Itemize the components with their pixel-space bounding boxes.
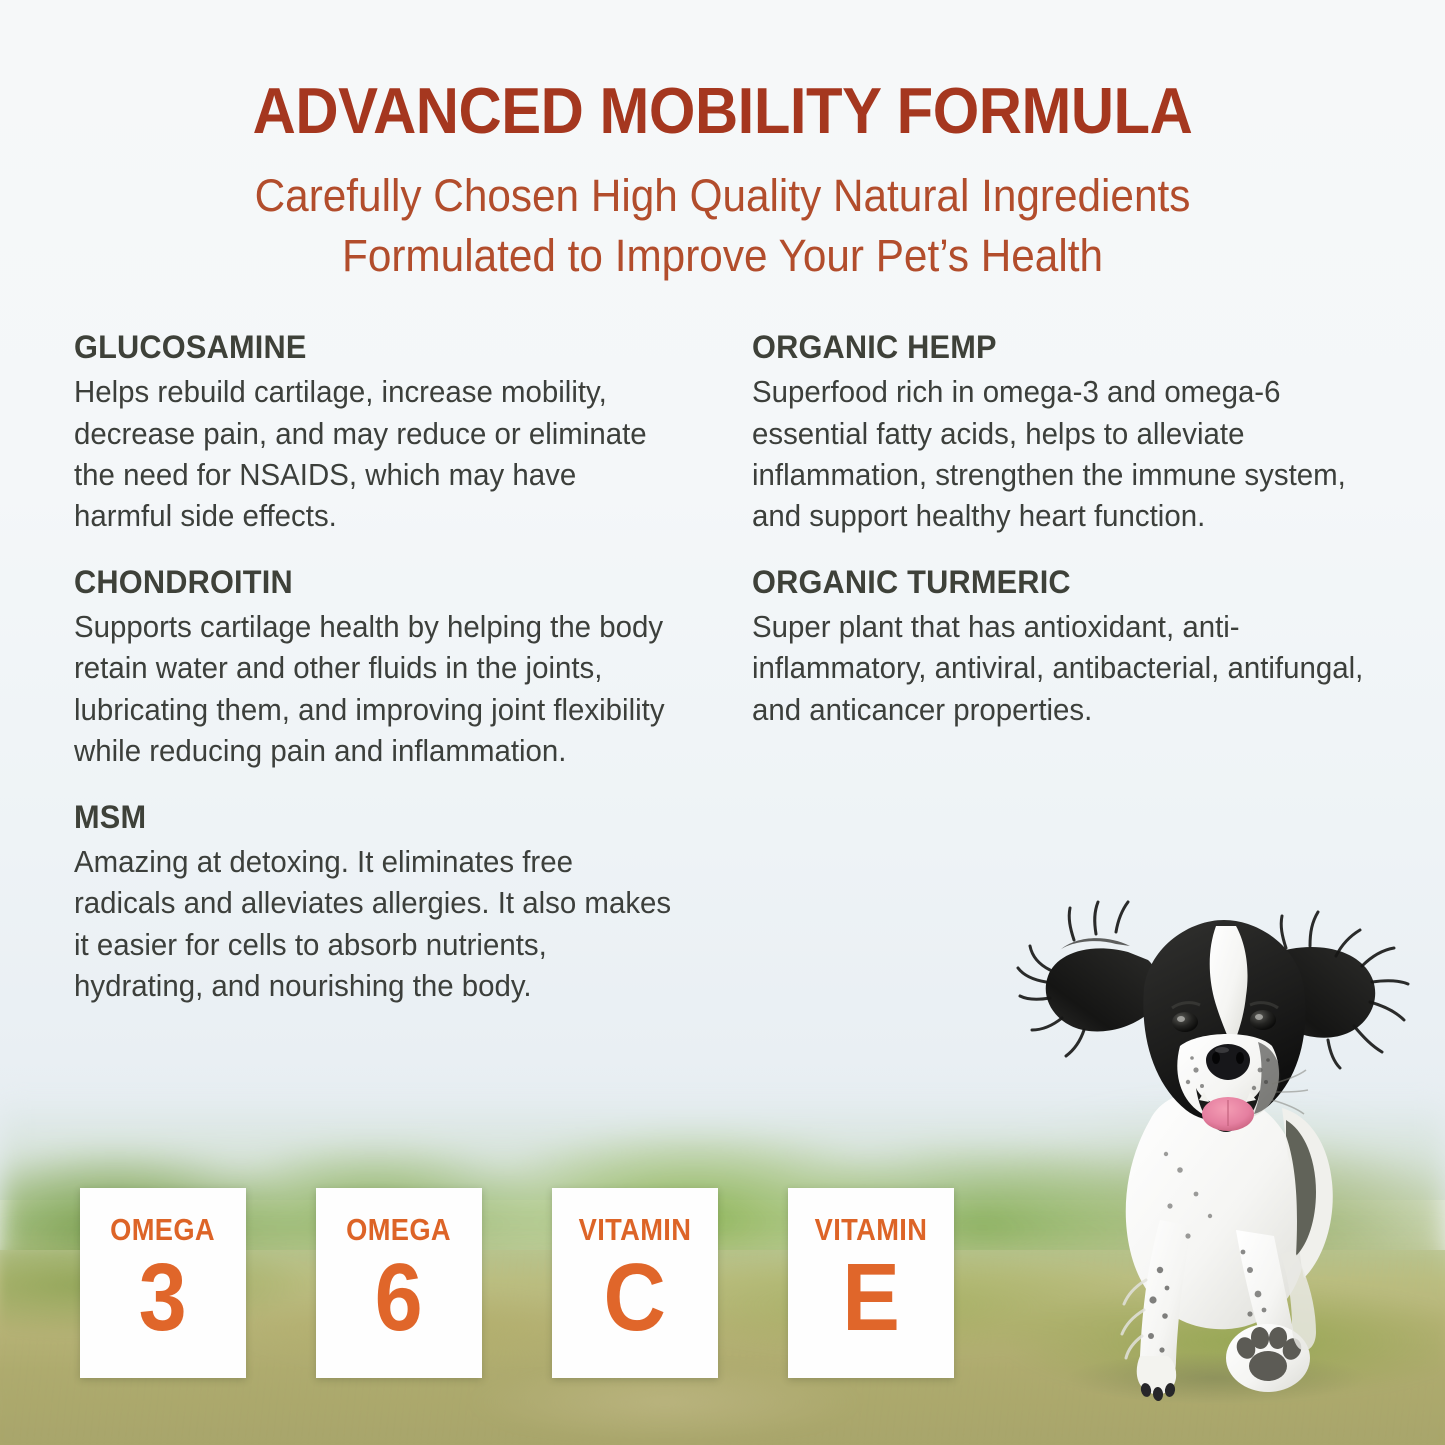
subtitle-line-1: Carefully Chosen High Quality Natural In… <box>43 166 1401 225</box>
badge-vitamin-c: VITAMIN C <box>552 1188 718 1378</box>
ingredient-title: ORGANIC HEMP <box>752 329 1366 366</box>
badge-value: 6 <box>375 1249 423 1347</box>
badge-value: E <box>842 1249 900 1347</box>
badge-vitamin-e: VITAMIN E <box>788 1188 954 1378</box>
ingredient-chondroitin: CHONDROITIN Supports cartilage health by… <box>74 564 694 773</box>
ingredient-description: Supports cartilage health by helping the… <box>74 607 672 773</box>
ingredient-description: Super plant that has antioxidant, anti-i… <box>752 607 1370 731</box>
ingredient-column-left: GLUCOSAMINE Helps rebuild cartilage, inc… <box>74 329 694 1008</box>
badge-label: OMEGA <box>347 1214 452 1245</box>
ingredient-title: ORGANIC TURMERIC <box>752 564 1366 601</box>
nutrient-badge-row: OMEGA 3 OMEGA 6 VITAMIN C VITAMIN E <box>80 1188 954 1378</box>
ingredient-columns: GLUCOSAMINE Helps rebuild cartilage, inc… <box>0 329 1445 1008</box>
blurred-green-field <box>925 1080 1445 1310</box>
ingredient-title: CHONDROITIN <box>74 564 669 601</box>
subtitle: Carefully Chosen High Quality Natural In… <box>43 166 1401 285</box>
ingredient-column-right: ORGANIC HEMP Superfood rich in omega-3 a… <box>752 329 1392 731</box>
subtitle-line-2: Formulated to Improve Your Pet’s Health <box>43 226 1401 285</box>
ingredient-glucosamine: GLUCOSAMINE Helps rebuild cartilage, inc… <box>74 329 694 538</box>
ingredient-description: Helps rebuild cartilage, increase mobili… <box>74 372 672 538</box>
badge-value: 3 <box>139 1249 187 1347</box>
ingredient-description: Superfood rich in omega-3 and omega-6 es… <box>752 372 1370 538</box>
badge-label: VITAMIN <box>579 1214 692 1245</box>
badge-label: VITAMIN <box>815 1214 928 1245</box>
badge-omega-3: OMEGA 3 <box>80 1188 246 1378</box>
ingredient-msm: MSM Amazing at detoxing. It eliminates f… <box>74 799 694 1008</box>
page-title: ADVANCED MOBILITY FORMULA <box>58 78 1387 144</box>
badge-label: OMEGA <box>111 1214 216 1245</box>
ingredient-title: GLUCOSAMINE <box>74 329 669 366</box>
badge-value: C <box>604 1249 666 1347</box>
product-infographic: ADVANCED MOBILITY FORMULA Carefully Chos… <box>0 0 1445 1445</box>
badge-omega-6: OMEGA 6 <box>316 1188 482 1378</box>
ingredient-organic-turmeric: ORGANIC TURMERIC Super plant that has an… <box>752 564 1392 731</box>
ingredient-organic-hemp: ORGANIC HEMP Superfood rich in omega-3 a… <box>752 329 1392 538</box>
ingredient-title: MSM <box>74 799 669 836</box>
ingredient-description: Amazing at detoxing. It eliminates free … <box>74 842 672 1008</box>
